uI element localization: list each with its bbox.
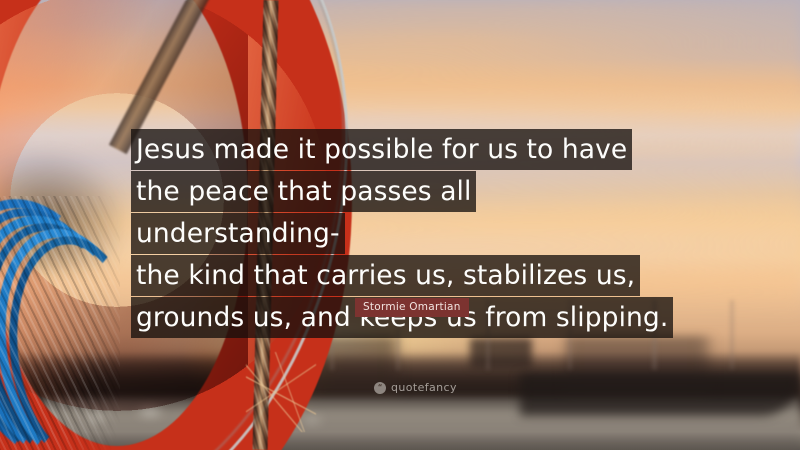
blue-rope-coil [0,196,120,450]
rope-twist-texture [0,196,120,450]
quote-line-text: the kind that carries us, stabilizes us, [136,260,635,291]
quote-line: Jesus made it possible for us to have [136,130,682,172]
quote-mark-icon: “ [374,382,386,394]
quote-line-text: Jesus made it possible for us to have [136,134,627,165]
watermark-brand-label: quotefancy [391,381,457,394]
rope-frayed-fibers [246,352,316,432]
author-badge: Stormie Omartian [355,298,469,317]
quote-line: the peace that passes all understanding- [136,172,682,256]
quotefancy-watermark[interactable]: “ quotefancy [374,381,457,394]
quote-line-text: the peace that passes all understanding- [136,176,471,249]
quote-poster: Jesus made it possible for us to have th… [0,0,800,450]
quote-line: the kind that carries us, stabilizes us, [136,256,682,298]
pier-silhouette [520,374,800,416]
